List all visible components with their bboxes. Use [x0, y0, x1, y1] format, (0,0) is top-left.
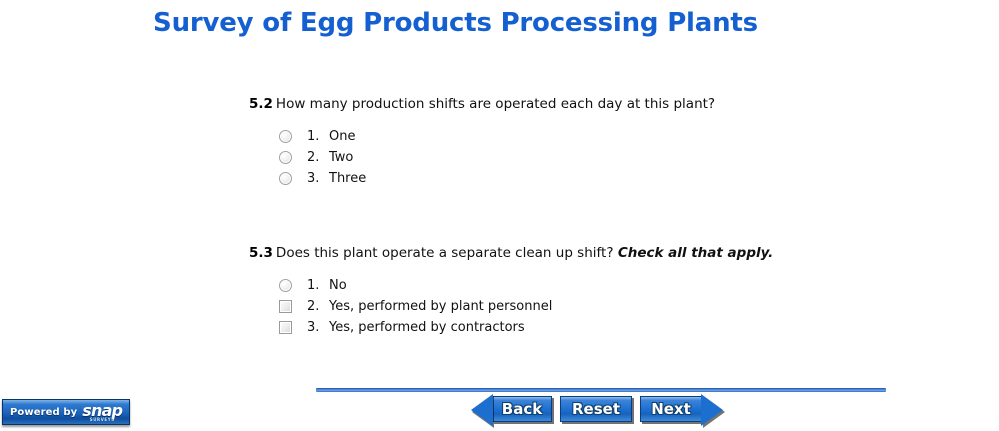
option-index: 2.	[307, 150, 329, 165]
option-row[interactable]: 2. Yes, performed by plant personnel	[279, 296, 773, 317]
question-number: 5.2	[249, 96, 273, 112]
navigation-divider	[316, 388, 886, 392]
radio-button-icon[interactable]	[279, 130, 292, 143]
option-list-5-3: 1. No 2. Yes, performed by plant personn…	[279, 275, 773, 338]
radio-button-icon[interactable]	[279, 172, 292, 185]
question-emphasis: Check all that apply.	[618, 245, 774, 261]
question-prompt: Does this plant operate a separate clean…	[276, 245, 614, 261]
option-index: 3.	[307, 320, 329, 335]
powered-by-label: Powered by	[10, 407, 77, 418]
back-button[interactable]: Back	[492, 396, 552, 422]
option-label: No	[329, 278, 347, 293]
arrow-left-icon	[471, 394, 493, 426]
snap-logo: snap SURVEYS	[82, 403, 122, 422]
option-list-5-2: 1. One 2. Two 3. Three	[279, 126, 715, 189]
option-row[interactable]: 1. One	[279, 126, 715, 147]
back-button-label: Back	[502, 400, 542, 418]
option-index: 1.	[307, 278, 329, 293]
question-text-5-2: 5.2How many production shifts are operat…	[249, 96, 715, 112]
option-row[interactable]: 2. Two	[279, 147, 715, 168]
arrow-right-icon	[701, 394, 723, 426]
next-button-label: Next	[651, 400, 691, 418]
option-label: Yes, performed by plant personnel	[329, 299, 552, 314]
question-text-5-3: 5.3Does this plant operate a separate cl…	[249, 245, 773, 261]
question-block-5-3: 5.3Does this plant operate a separate cl…	[249, 245, 773, 338]
question-number: 5.3	[249, 245, 273, 261]
option-label: One	[329, 129, 355, 144]
radio-button-icon[interactable]	[279, 279, 292, 292]
next-button[interactable]: Next	[640, 396, 702, 422]
navigation-bar: Back Reset Next	[474, 396, 702, 422]
question-prompt: How many production shifts are operated …	[276, 96, 715, 112]
option-index: 2.	[307, 299, 329, 314]
option-row[interactable]: 1. No	[279, 275, 773, 296]
powered-by-snap-badge[interactable]: Powered by snap SURVEYS	[2, 399, 130, 425]
option-row[interactable]: 3. Three	[279, 168, 715, 189]
checkbox-icon[interactable]	[279, 300, 292, 313]
option-label: Two	[329, 150, 353, 165]
option-index: 3.	[307, 171, 329, 186]
option-index: 1.	[307, 129, 329, 144]
reset-button[interactable]: Reset	[560, 396, 632, 422]
radio-button-icon[interactable]	[279, 151, 292, 164]
question-block-5-2: 5.2How many production shifts are operat…	[249, 96, 715, 189]
option-row[interactable]: 3. Yes, performed by contractors	[279, 317, 773, 338]
option-label: Three	[329, 171, 366, 186]
page-title: Survey of Egg Products Processing Plants	[0, 8, 999, 38]
option-label: Yes, performed by contractors	[329, 320, 525, 335]
checkbox-icon[interactable]	[279, 321, 292, 334]
reset-button-label: Reset	[572, 400, 620, 418]
